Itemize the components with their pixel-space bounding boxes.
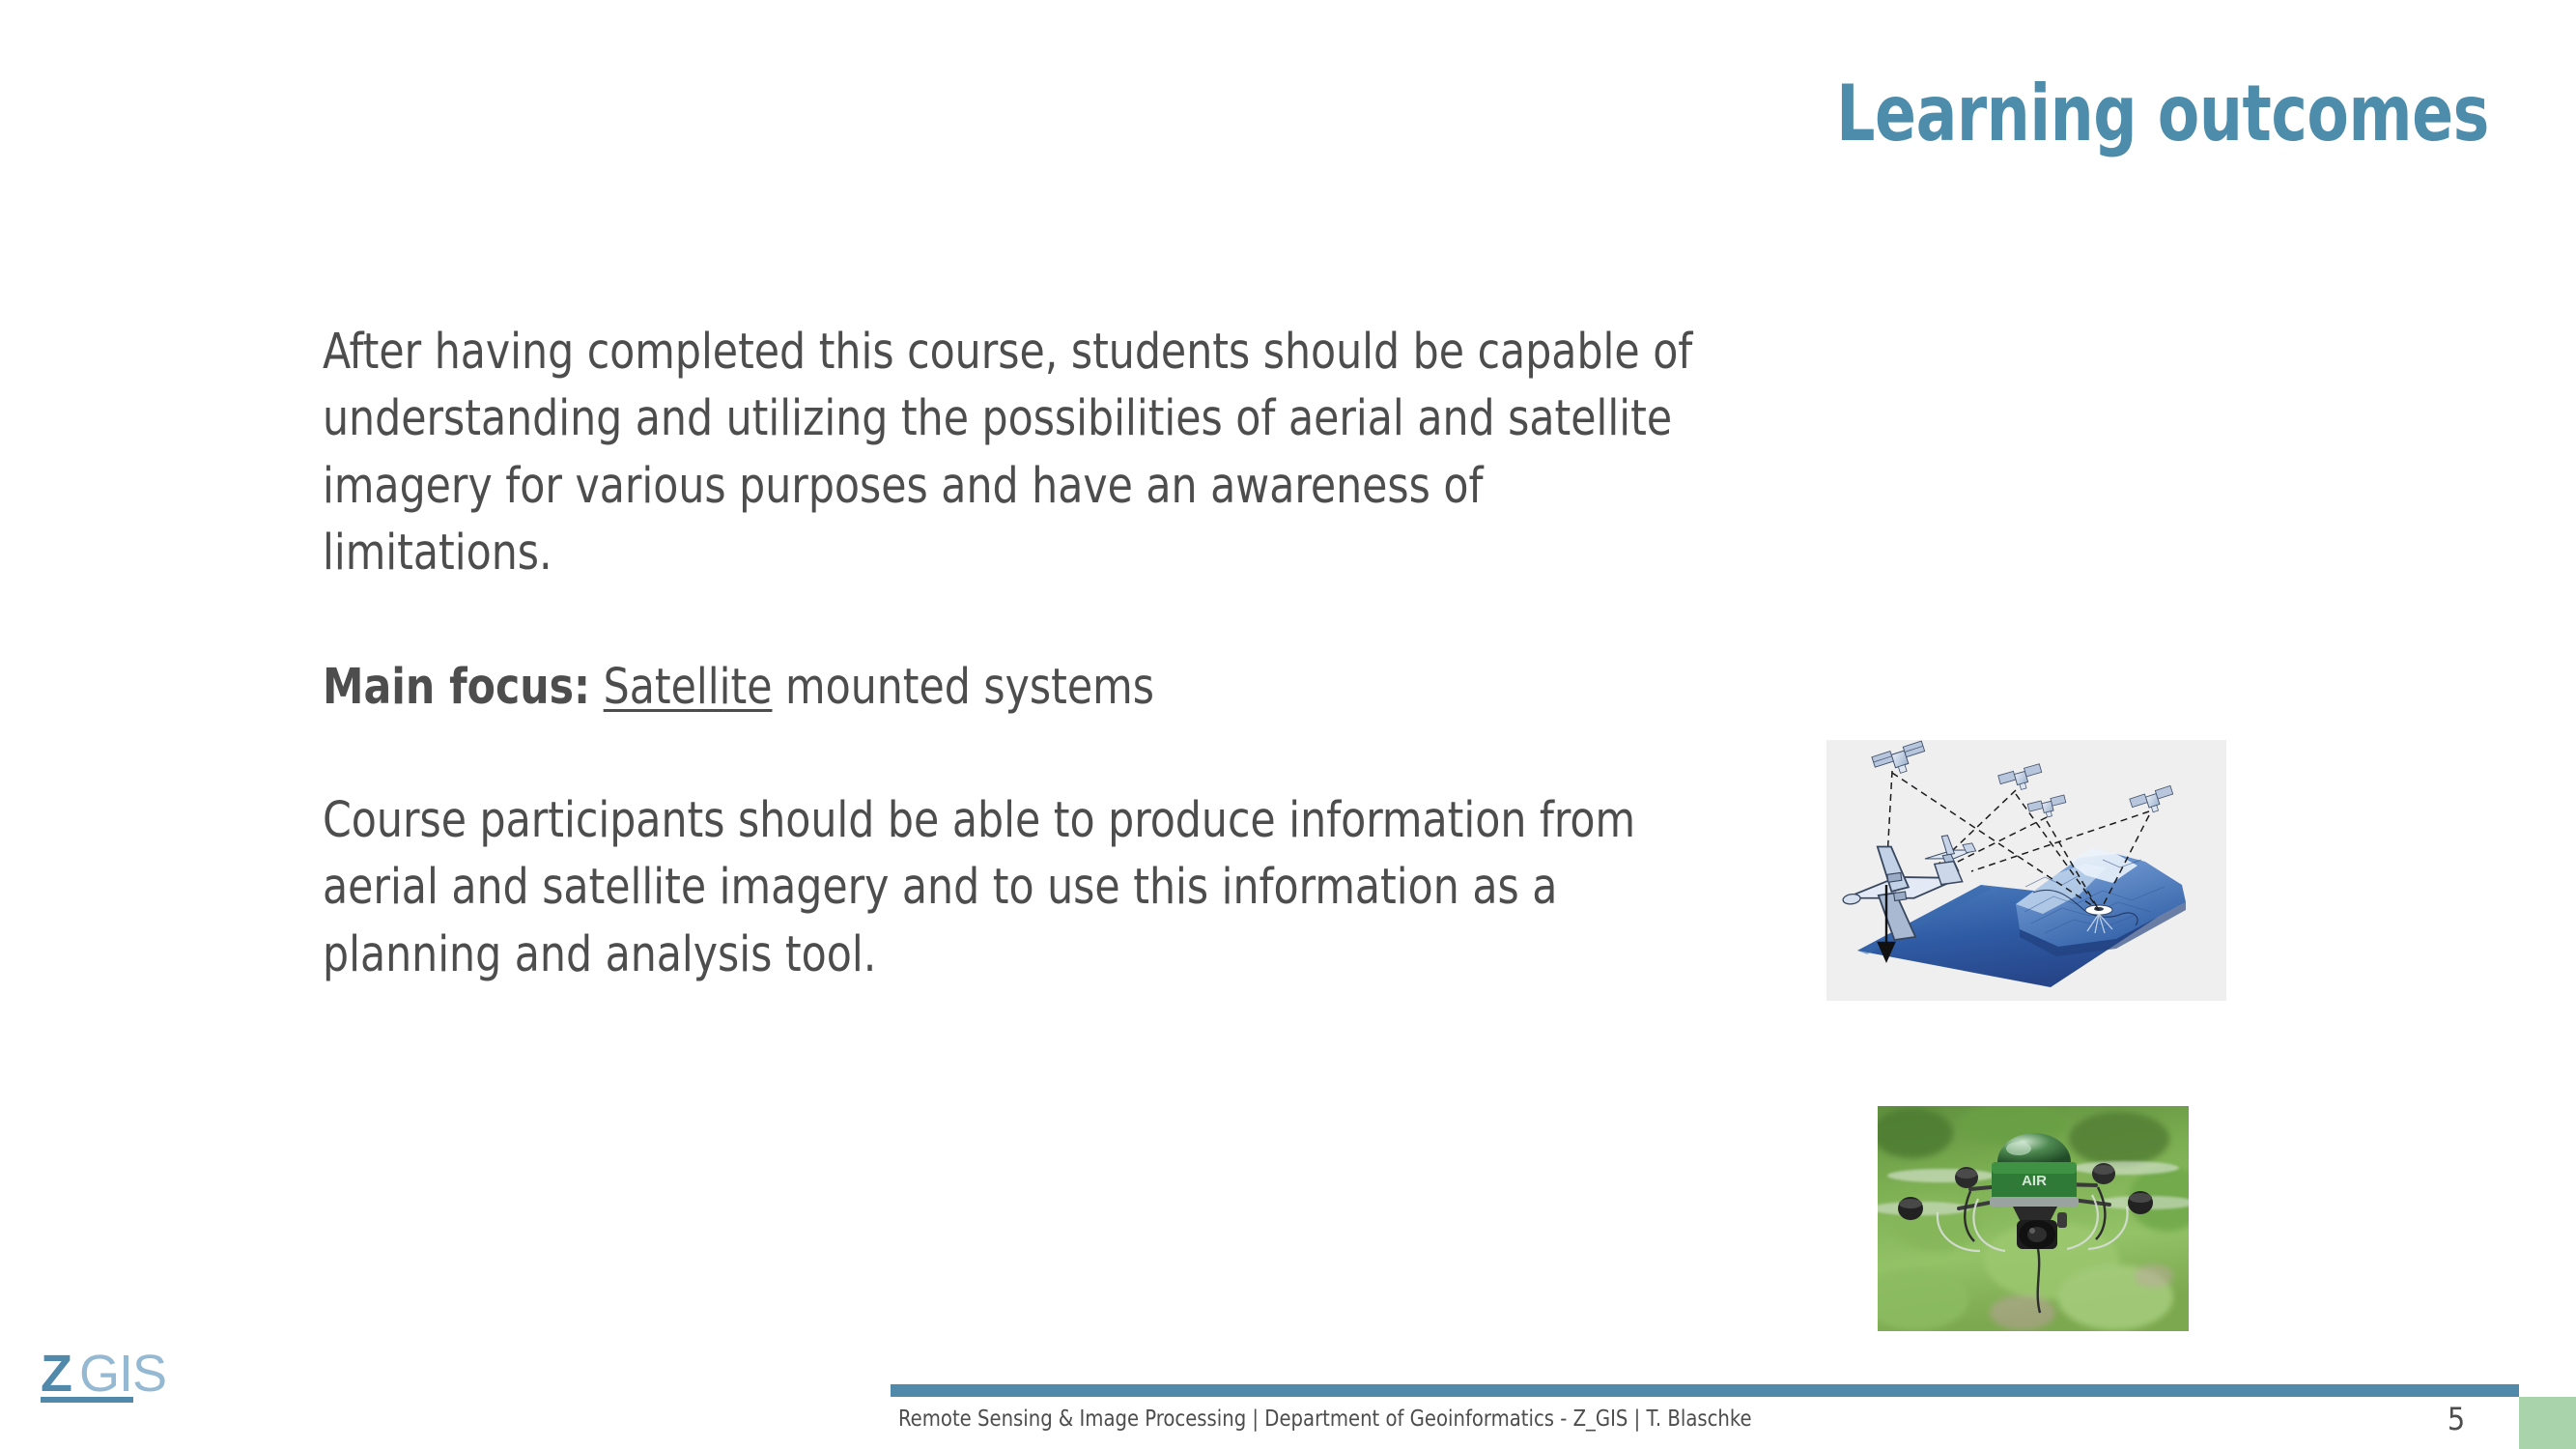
zgis-logo-gis-letters: GIS	[79, 1345, 166, 1403]
paragraph-intro: After having completed this course, stud…	[323, 319, 1706, 586]
satellite-diagram-image	[1826, 740, 2226, 1001]
footer-accent-block	[2519, 1397, 2576, 1449]
paragraph-main-focus: Main focus: Satellite mounted systems	[323, 654, 1706, 721]
paragraph-course-outcome: Course participants should be able to pr…	[323, 787, 1706, 988]
main-focus-remainder: mounted systems	[785, 659, 1154, 716]
drone-photo-image: AIR	[1878, 1106, 2189, 1331]
svg-text:AIR: AIR	[2022, 1173, 2047, 1189]
zgis-logo: Z GIS	[39, 1343, 251, 1420]
page-number: 5	[2432, 1401, 2480, 1437]
slide-body-text: After having completed this course, stud…	[323, 319, 1810, 988]
footer-text: Remote Sensing & Image Processing | Depa…	[898, 1406, 1752, 1432]
zgis-logo-z-letter: Z	[41, 1345, 72, 1403]
main-focus-keyword: Satellite	[604, 659, 773, 716]
footer-divider-rule	[891, 1384, 2519, 1397]
main-focus-label: Main focus:	[323, 659, 590, 716]
page-title: Learning outcomes	[1836, 75, 2489, 153]
presentation-slide: Learning outcomes After having completed…	[0, 0, 2576, 1449]
